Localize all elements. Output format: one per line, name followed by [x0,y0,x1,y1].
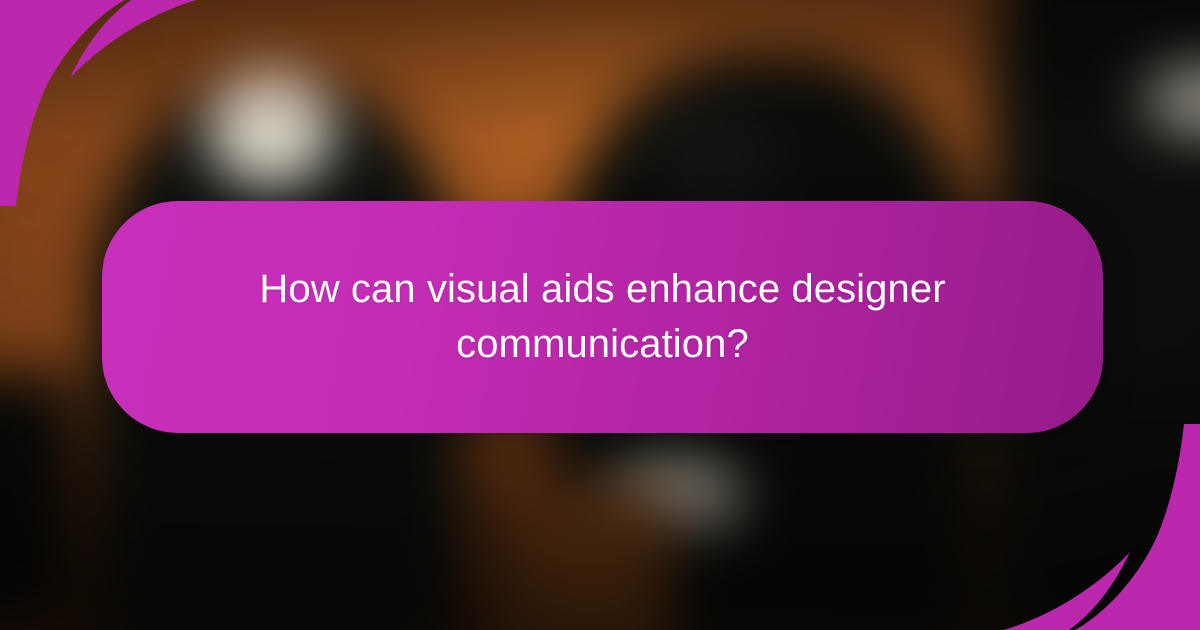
question-card: How can visual aids enhance designer com… [102,201,1103,433]
question-text: How can visual aids enhance designer com… [233,262,973,372]
screenshot-canvas: How can visual aids enhance designer com… [0,0,1200,630]
